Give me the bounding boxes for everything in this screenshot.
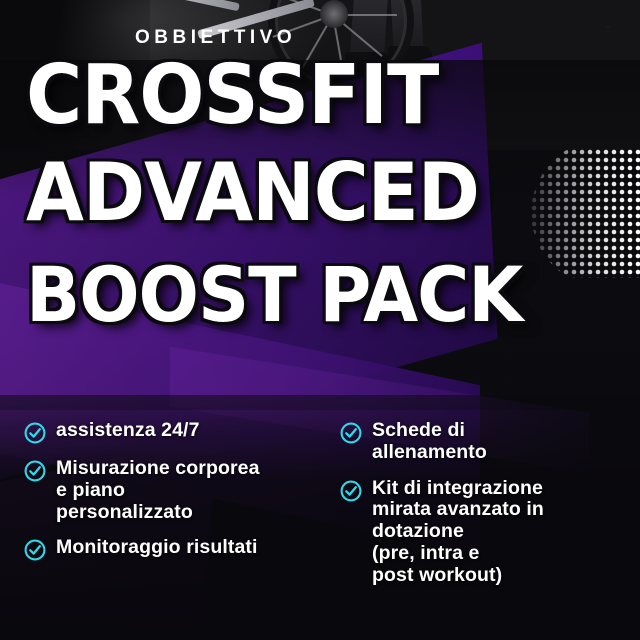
wheel-hub: [320, 0, 348, 28]
list-item-label: assistenza 24/7: [56, 420, 200, 442]
list-item: Schede di allenamento: [340, 420, 640, 464]
headline-line-1: CROSSFIT: [26, 62, 438, 129]
list-item: Kit di integrazione mirata avanzato in d…: [340, 478, 640, 587]
list-item: Monitoraggio risultati: [24, 537, 324, 561]
check-circle-icon: [24, 422, 46, 444]
headline-line-3: BOOST PACK: [26, 264, 522, 326]
list-item: Misurazione corporea e piano personalizz…: [24, 458, 324, 523]
check-circle-icon: [340, 480, 362, 502]
check-circle-icon: [24, 539, 46, 561]
promo-poster: OBBIETTIVO CROSSFIT ADVANCED BOOST PACK …: [0, 0, 640, 640]
eyebrow-label: OBBIETTIVO: [135, 27, 296, 49]
check-circle-icon: [24, 460, 46, 482]
feature-column-left: assistenza 24/7 Misurazione corporea e p…: [24, 420, 324, 630]
check-circle-icon: [340, 422, 362, 444]
list-item-label: Monitoraggio risultati: [56, 537, 258, 559]
list-item-label: Kit di integrazione mirata avanzato in d…: [372, 478, 544, 587]
list-item-label: Misurazione corporea e piano personalizz…: [56, 458, 260, 523]
feature-column-right: Schede di allenamento Kit di integrazion…: [324, 420, 640, 630]
list-item-label: Schede di allenamento: [372, 420, 487, 464]
halftone-arc-decoration: [530, 148, 640, 278]
list-item: assistenza 24/7: [24, 420, 324, 444]
headline-line-2: ADVANCED: [26, 160, 479, 226]
feature-list: assistenza 24/7 Misurazione corporea e p…: [24, 420, 640, 630]
